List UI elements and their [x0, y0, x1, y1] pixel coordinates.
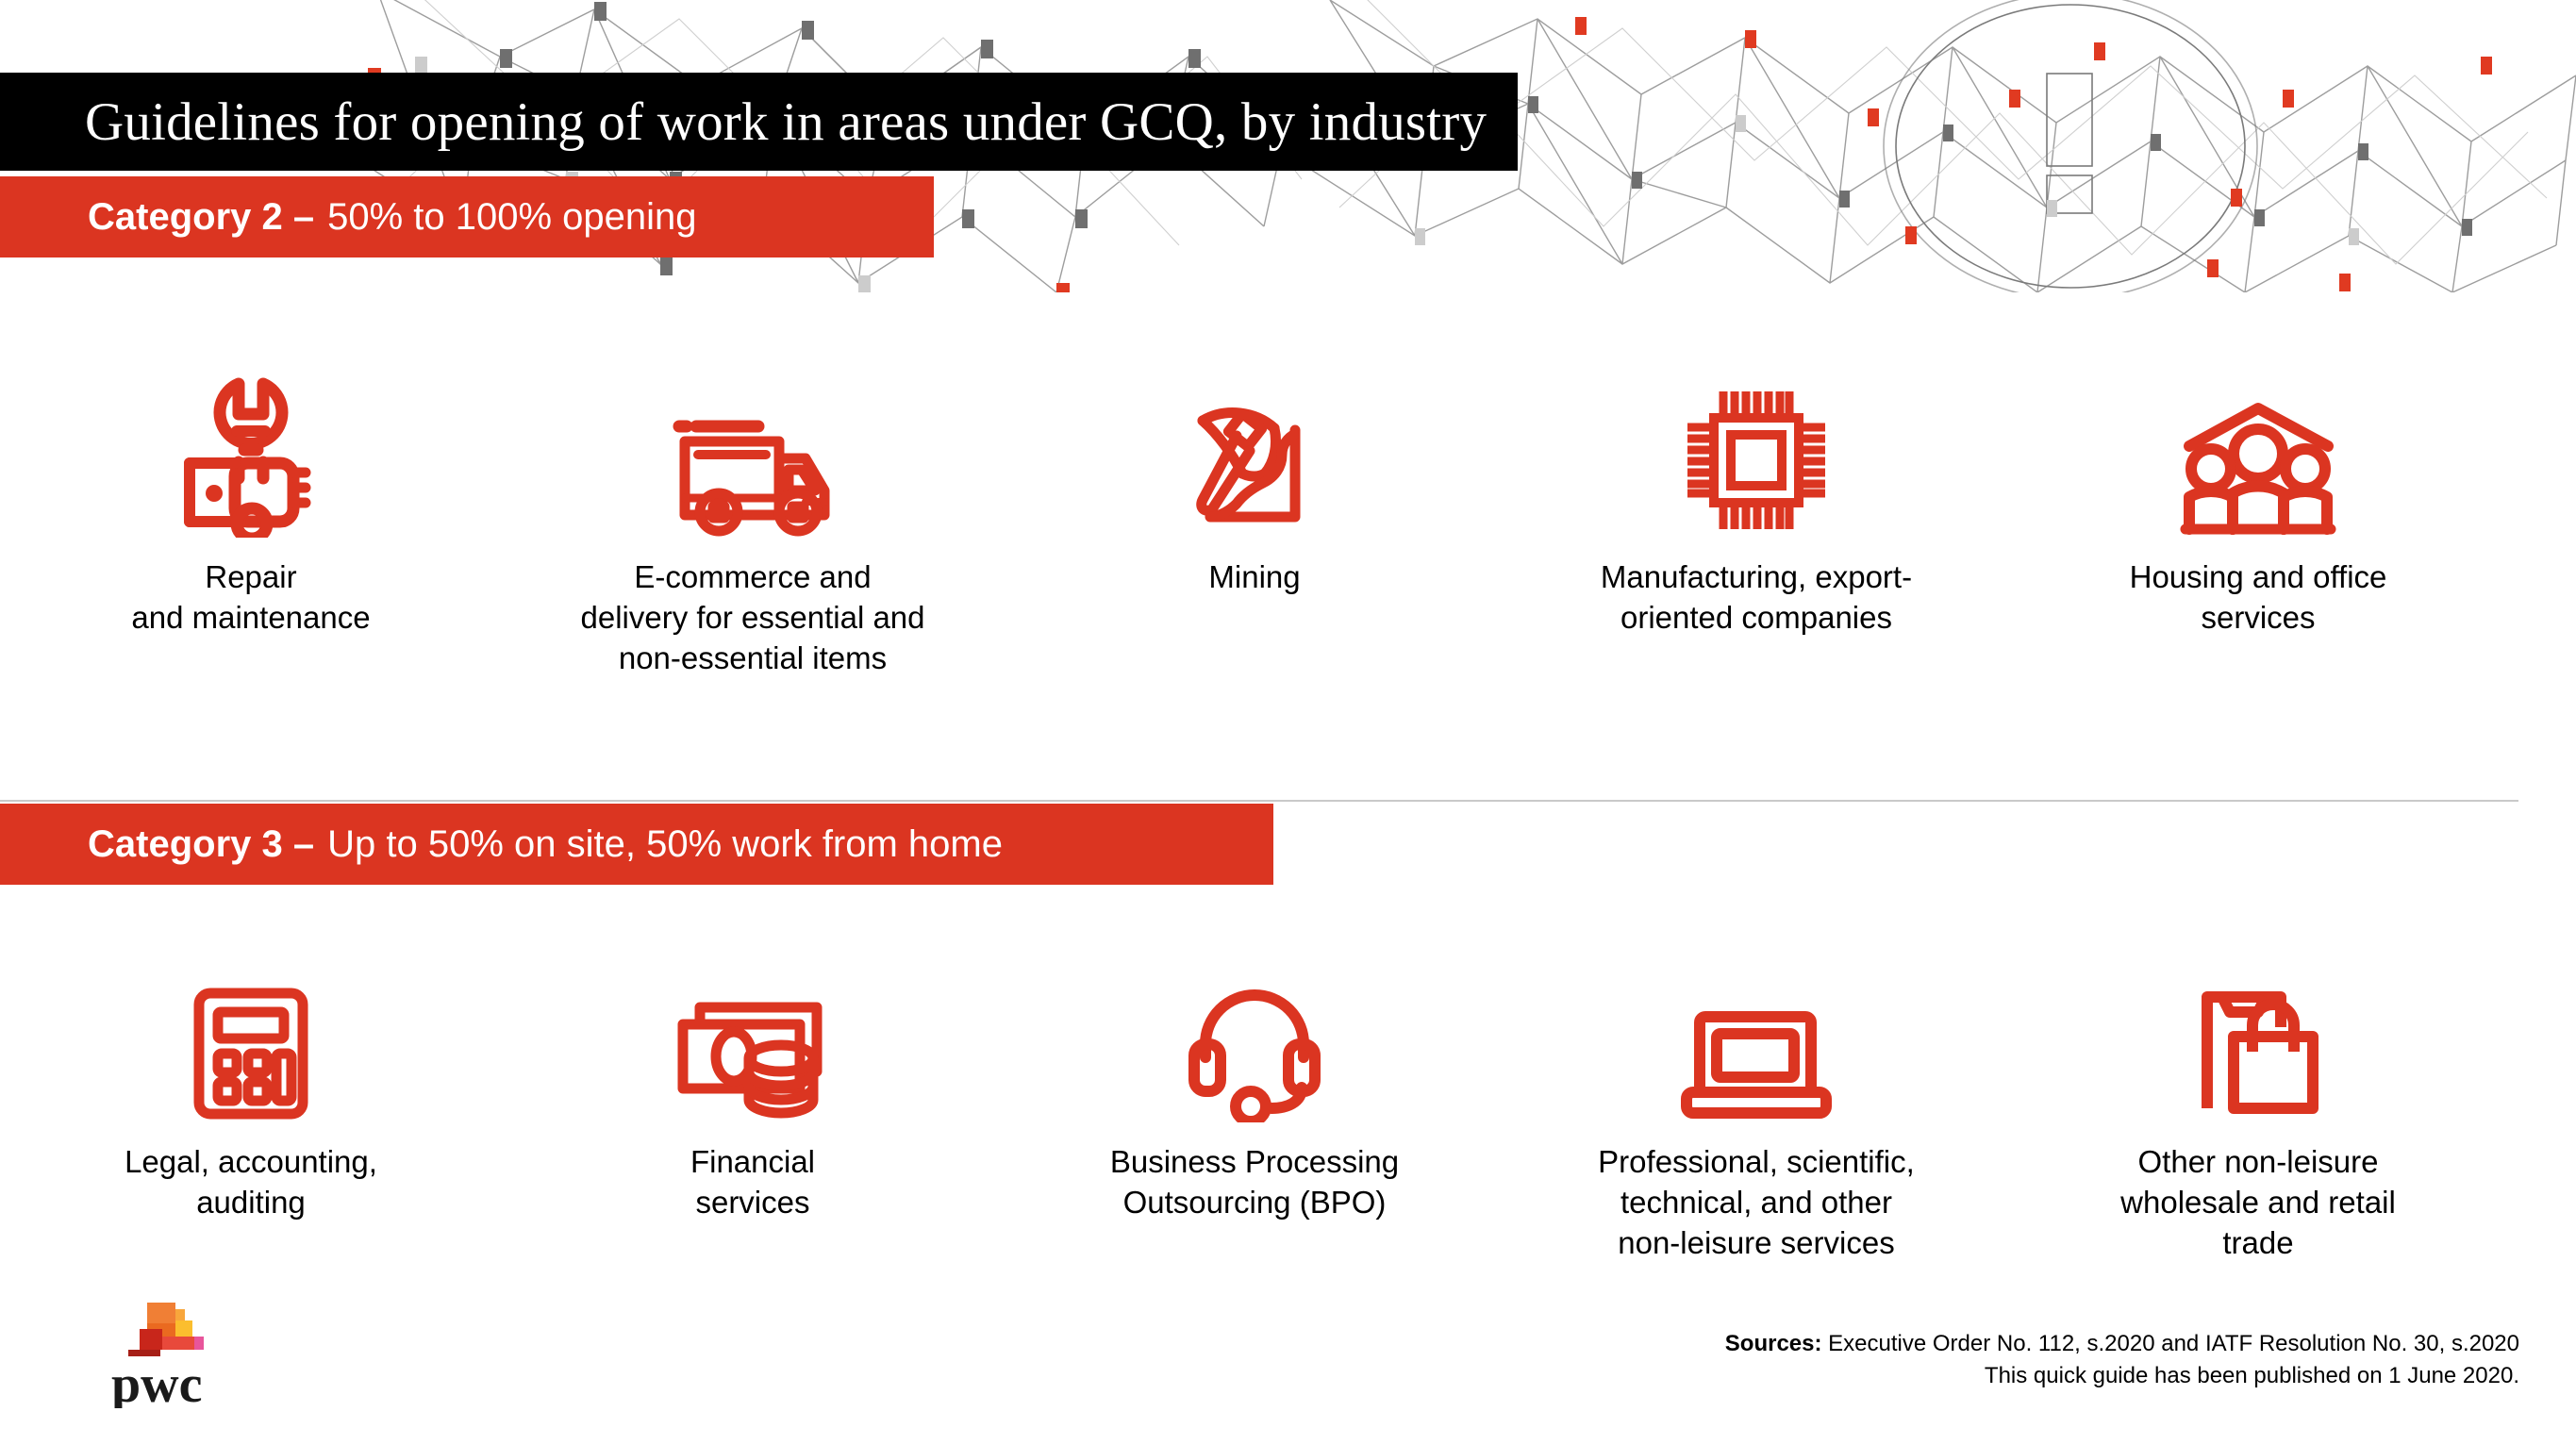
page-title: Guidelines for opening of work in areas …: [0, 91, 1487, 153]
sources-note: Sources: Executive Order No. 112, s.2020…: [1725, 1328, 2519, 1392]
calculator-icon: [190, 948, 312, 1122]
category-2-label: Category 2 –: [0, 196, 314, 239]
wrench-hand-icon: [180, 363, 322, 538]
pwc-logo: pwc: [111, 1300, 291, 1408]
industry-item-legal-accounting[interactable]: Legal, accounting, auditing: [0, 948, 502, 1263]
laptop-icon: [1679, 948, 1835, 1122]
sources-label: Sources:: [1725, 1331, 1822, 1356]
industry-item-ecommerce-delivery[interactable]: E-commerce and delivery for essential an…: [502, 363, 1004, 678]
headset-icon: [1188, 948, 1321, 1122]
industry-item-label: Housing and office services: [2130, 556, 2387, 638]
banknote-coins-icon: [675, 948, 831, 1122]
industry-item-label: Mining: [1208, 556, 1300, 597]
industry-item-label: Manufacturing, export- oriented companie…: [1601, 556, 1912, 638]
industry-item-label: Legal, accounting, auditing: [125, 1141, 377, 1222]
title-bar: Guidelines for opening of work in areas …: [0, 73, 1518, 171]
industry-item-housing-office[interactable]: Housing and office services: [2007, 363, 2509, 678]
sources-line-1: Sources: Executive Order No. 112, s.2020…: [1725, 1328, 2519, 1360]
industry-item-label: Business Processing Outsourcing (BPO): [1110, 1141, 1399, 1222]
category-3-label: Category 3 –: [0, 823, 314, 866]
category-3-description: Up to 50% on site, 50% work from home: [314, 823, 1003, 866]
shopping-bags-icon: [2190, 948, 2327, 1122]
industry-item-manufacturing[interactable]: Manufacturing, export- oriented companie…: [1505, 363, 2007, 678]
section-divider: [0, 800, 2518, 802]
published-line: This quick guide has been published on 1…: [1725, 1360, 2519, 1392]
category-3-items-row: Legal, accounting, auditing Financial se…: [0, 948, 2509, 1263]
microchip-icon: [1676, 363, 1836, 538]
industry-item-bpo[interactable]: Business Processing Outsourcing (BPO): [1004, 948, 1505, 1263]
industry-item-wholesale-retail[interactable]: Other non-leisure wholesale and retail t…: [2007, 948, 2509, 1263]
sources-text: Executive Order No. 112, s.2020 and IATF…: [1828, 1331, 2519, 1356]
industry-item-repair-maintenance[interactable]: Repair and maintenance: [0, 363, 502, 678]
industry-item-label: Professional, scientific, technical, and…: [1598, 1141, 1915, 1263]
category-2-banner: Category 2 – 50% to 100% opening: [0, 176, 934, 257]
industry-item-professional-services[interactable]: Professional, scientific, technical, and…: [1505, 948, 2007, 1263]
industry-item-label: Other non-leisure wholesale and retail t…: [2120, 1141, 2396, 1263]
industry-item-financial-services[interactable]: Financial services: [502, 948, 1004, 1263]
industry-item-label: Repair and maintenance: [131, 556, 370, 638]
industry-item-label: Financial services: [690, 1141, 815, 1222]
pwc-logo-text: pwc: [111, 1355, 202, 1408]
industry-item-label: E-commerce and delivery for essential an…: [580, 556, 924, 678]
category-2-items-row: Repair and maintenance E-comme: [0, 363, 2509, 678]
category-3-banner: Category 3 – Up to 50% on site, 50% work…: [0, 804, 1273, 885]
category-2-description: 50% to 100% opening: [314, 196, 696, 239]
pickaxe-icon: [1184, 363, 1325, 538]
delivery-truck-icon: [666, 363, 840, 538]
house-people-icon: [2176, 363, 2341, 538]
industry-item-mining[interactable]: Mining: [1004, 363, 1505, 678]
slide: Guidelines for opening of work in areas …: [0, 0, 2576, 1445]
